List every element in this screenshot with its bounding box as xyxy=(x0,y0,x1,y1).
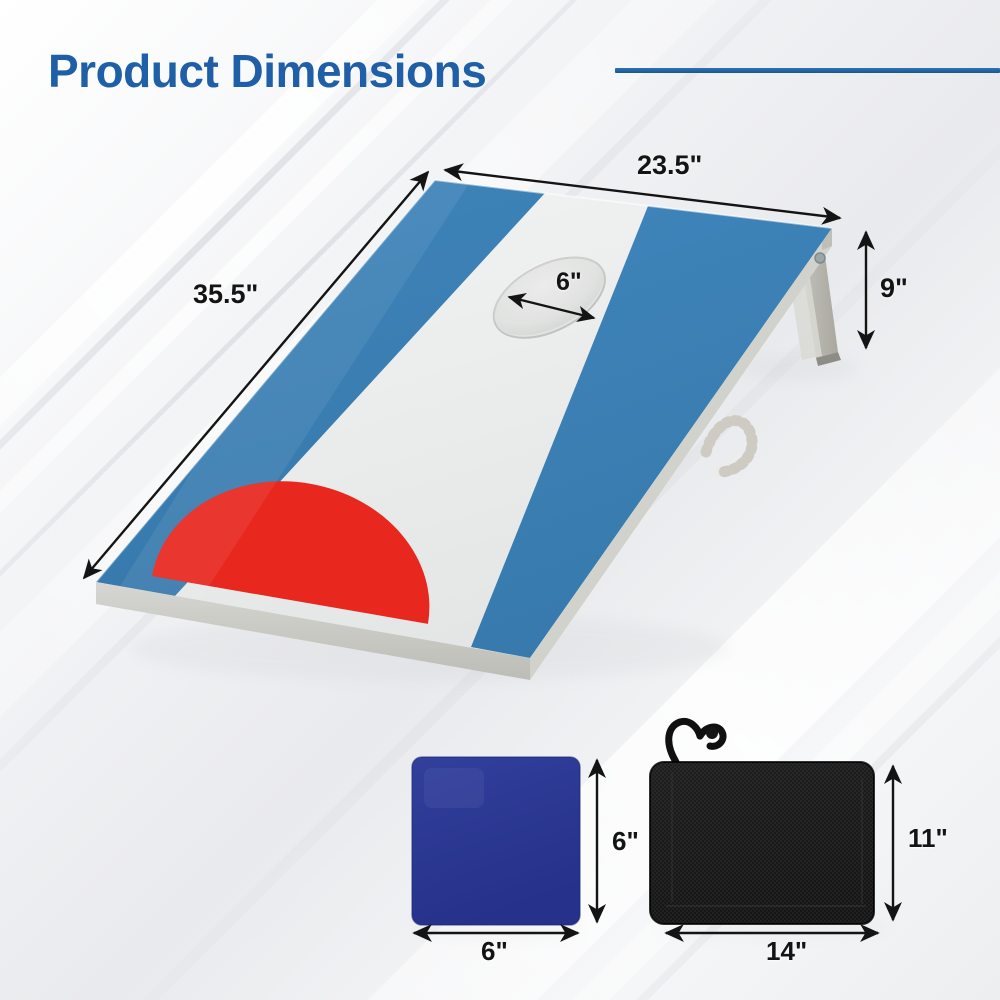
bean-bag xyxy=(412,757,584,940)
label-beanbag-width: 6" xyxy=(481,938,508,964)
label-target-hole: 6" xyxy=(556,270,582,295)
title-rule xyxy=(615,68,1000,73)
page-title: Product Dimensions xyxy=(48,44,486,98)
carry-bag xyxy=(650,721,890,939)
label-board-length: 35.5" xyxy=(193,281,258,308)
label-beanbag-height: 6" xyxy=(612,828,639,854)
infographic-canvas: Product Dimensions 23.5" 35.5" 6" 9" 6" … xyxy=(0,0,1000,1000)
label-carrybag-width: 14" xyxy=(766,938,807,964)
board-top-face xyxy=(96,170,832,658)
hinge-bolt xyxy=(815,253,825,263)
drawstring-cord xyxy=(669,721,723,762)
product-illustration xyxy=(0,0,1000,1000)
label-board-width: 23.5" xyxy=(637,152,702,179)
leg-shadow xyxy=(742,355,858,381)
rope-handle xyxy=(706,421,752,472)
label-board-height: 9" xyxy=(880,275,908,302)
label-carrybag-height: 11" xyxy=(908,825,948,851)
